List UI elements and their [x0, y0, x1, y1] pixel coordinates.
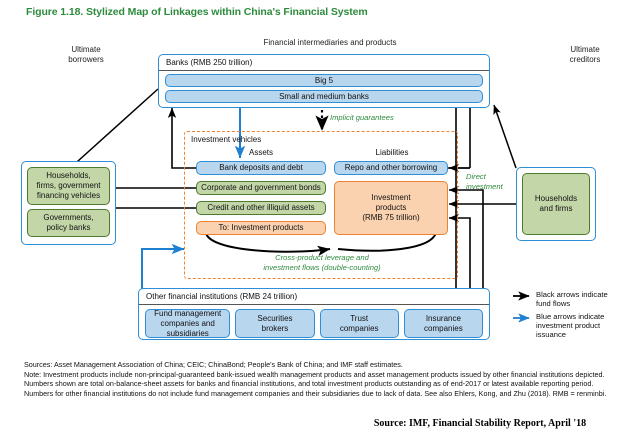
- asset-2-label: Credit and other illiquid assets: [207, 203, 314, 213]
- annotation-implicit-guarantees: Implicit guarantees: [330, 113, 450, 123]
- caption-ultimate-creditors-line2: creditors: [540, 55, 630, 65]
- legend: Black arrows indicate fund flows Blue ar…: [512, 290, 640, 339]
- banks-panel-header: Banks (RMB 250 trillion): [159, 55, 489, 71]
- right-panel-ultimate-creditors: Households and firms: [516, 167, 596, 241]
- other-fi-0-line3: subsidiaries: [167, 329, 209, 339]
- caption-ultimate-creditors-line1: Ultimate: [540, 45, 630, 55]
- legend-blue-line1: Blue arrows indicate: [536, 312, 604, 321]
- liability-investment-products[interactable]: Investment products (RMB 75 trillion): [334, 181, 448, 235]
- other-fi-item-trust-companies[interactable]: Trust companies: [320, 309, 399, 338]
- footnote-sources: Sources: Asset Management Association of…: [24, 360, 624, 370]
- asset-bank-deposits-and-debt[interactable]: Bank deposits and debt: [196, 161, 326, 175]
- other-fi-header: Other financial institutions (RMB 24 tri…: [139, 289, 489, 305]
- legend-black-line1: Black arrows indicate: [536, 290, 608, 299]
- asset-credit-and-other-illiquid-assets[interactable]: Credit and other illiquid assets: [196, 201, 326, 215]
- asset-to-investment-products[interactable]: To: Investment products: [196, 221, 326, 235]
- legend-entry-black: Black arrows indicate fund flows: [512, 290, 640, 308]
- annotation-direct-investment-line1: Direct: [466, 172, 514, 182]
- annotation-cross-product-line2: investment flows (double-counting): [200, 263, 444, 273]
- caption-financial-intermediaries: Financial intermediaries and products: [190, 38, 470, 48]
- legend-entry-blue: Blue arrows indicate investment product …: [512, 312, 640, 339]
- caption-ultimate-borrowers-line2: borrowers: [36, 55, 136, 65]
- investment-vehicles-title: Investment vehicles: [191, 135, 261, 144]
- caption-ultimate-creditors: Ultimate creditors: [540, 45, 630, 65]
- liability-0-label: Repo and other borrowing: [345, 163, 438, 173]
- banks-panel: Banks (RMB 250 trillion) Big 5 Small and…: [158, 54, 490, 108]
- investment-products-line2: products: [376, 203, 407, 213]
- other-fi-2-line1: Trust: [350, 314, 368, 324]
- column-header-liabilities: Liabilities: [334, 148, 450, 157]
- right-item-0-line2: and firms: [540, 204, 573, 214]
- banks-item-small-medium-label: Small and medium banks: [279, 92, 369, 102]
- other-fi-0-line2: companies and: [161, 319, 215, 329]
- legend-blue-line2: investment product: [536, 321, 604, 330]
- left-panel-item-households-firms-gfv[interactable]: Households, firms, government financing …: [27, 167, 110, 205]
- other-fi-1-line2: brokers: [262, 324, 289, 334]
- figure-canvas: Figure 1.18. Stylized Map of Linkages wi…: [0, 0, 640, 438]
- legend-blue-arrow-icon: [512, 313, 536, 323]
- banks-item-small-medium[interactable]: Small and medium banks: [165, 90, 483, 103]
- asset-1-label: Corporate and government bonds: [201, 183, 321, 193]
- annotation-cross-product-line1: Cross-product leverage and: [200, 253, 444, 263]
- left-item-0-line3: financing vehicles: [37, 191, 100, 201]
- investment-products-line1: Investment: [371, 193, 410, 203]
- other-fi-item-fund-management[interactable]: Fund management companies and subsidiari…: [145, 309, 230, 338]
- other-fi-item-securities-brokers[interactable]: Securities brokers: [235, 309, 314, 338]
- right-panel-item-households-and-firms[interactable]: Households and firms: [522, 173, 590, 235]
- left-item-0-line2: firms, government: [36, 181, 100, 191]
- source-attribution: Source: IMF, Financial Stability Report,…: [330, 418, 630, 429]
- banks-item-big5-label: Big 5: [315, 76, 333, 86]
- other-fi-item-insurance-companies[interactable]: Insurance companies: [404, 309, 483, 338]
- left-panel-item-governments-policy-banks[interactable]: Governments, policy banks: [27, 209, 110, 237]
- column-header-assets: Assets: [196, 148, 326, 157]
- footnote-note: Note: Investment products include non-pr…: [24, 370, 624, 399]
- right-item-0-line1: Households: [535, 194, 577, 204]
- left-item-1-line1: Governments,: [43, 213, 93, 223]
- left-item-1-line2: policy banks: [46, 223, 90, 233]
- caption-ultimate-borrowers: Ultimate borrowers: [36, 45, 136, 65]
- other-fi-1-line1: Securities: [257, 314, 292, 324]
- annotation-direct-investment: Direct investment: [466, 172, 514, 191]
- liability-repo-and-other-borrowing[interactable]: Repo and other borrowing: [334, 161, 448, 175]
- other-fi-2-line2: companies: [340, 324, 379, 334]
- annotation-cross-product-leverage: Cross-product leverage and investment fl…: [200, 253, 444, 272]
- legend-black-line2: fund flows: [536, 299, 608, 308]
- other-fi-3-line1: Insurance: [426, 314, 461, 324]
- investment-products-line3: (RMB 75 trillion): [362, 213, 419, 223]
- legend-black-arrow-icon: [512, 291, 536, 301]
- footnotes: Sources: Asset Management Association of…: [24, 360, 624, 398]
- other-financial-institutions-panel: Other financial institutions (RMB 24 tri…: [138, 288, 490, 340]
- legend-blue-line3: issuance: [536, 330, 604, 339]
- asset-corporate-and-government-bonds[interactable]: Corporate and government bonds: [196, 181, 326, 195]
- asset-0-label: Bank deposits and debt: [219, 163, 303, 173]
- left-item-0-line1: Households,: [46, 171, 90, 181]
- other-fi-3-line2: companies: [424, 324, 463, 334]
- left-panel-ultimate-borrowers: Households, firms, government financing …: [21, 161, 116, 245]
- figure-title: Figure 1.18. Stylized Map of Linkages wi…: [26, 6, 586, 18]
- annotation-direct-investment-line2: investment: [466, 182, 514, 192]
- asset-3-label: To: Investment products: [219, 223, 304, 233]
- banks-item-big5[interactable]: Big 5: [165, 74, 483, 87]
- caption-ultimate-borrowers-line1: Ultimate: [36, 45, 136, 55]
- other-fi-0-line1: Fund management: [154, 309, 221, 319]
